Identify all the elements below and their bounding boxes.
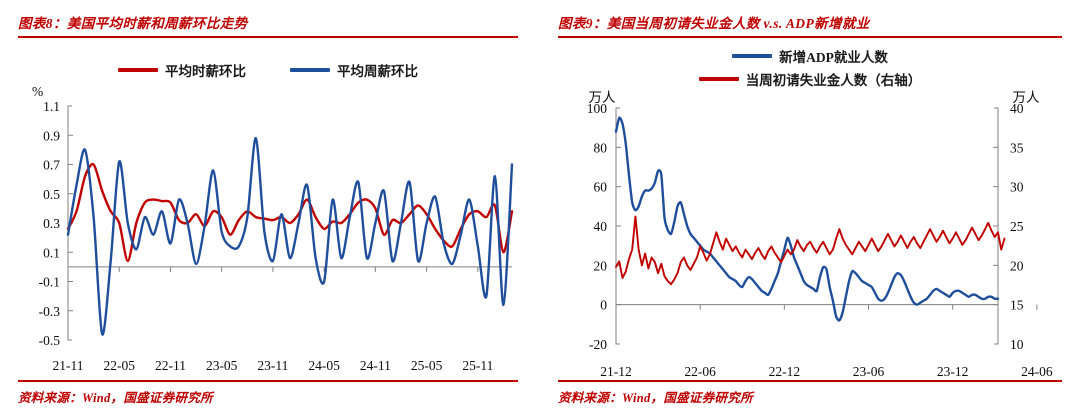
legend-swatch-blue xyxy=(290,68,330,72)
right-axis-tick-label: 15 xyxy=(1010,298,1024,313)
figure-9-title: 图表9：美国当周初请失业金人数 v.s. ADP新增就业 xyxy=(558,12,1062,32)
x-axis-tick-label: 24-05 xyxy=(308,358,340,373)
legend-swatch-blue xyxy=(732,54,772,58)
right-axis-tick-label: 30 xyxy=(1010,180,1024,195)
y-axis-tick-label: 1.1 xyxy=(43,99,60,114)
right-axis-tick-label: 10 xyxy=(1010,337,1024,352)
figure-8-svg: %1.10.90.70.50.30.1-0.1-0.3-0.521-1122-0… xyxy=(18,78,518,378)
right-axis-tick-label: 20 xyxy=(1010,258,1024,273)
x-axis-tick-label: 25-05 xyxy=(411,358,443,373)
figure-9-bottom-rule xyxy=(558,380,1062,382)
legend-label-hourly-wage: 平均时薪环比 xyxy=(165,60,246,80)
y-axis-tick-label: 0.1 xyxy=(43,245,60,260)
figure-9-legend: 新增ADP就业人数 当周初请失业金人数（右轴） xyxy=(558,46,1062,89)
figure-panel-9: 图表9：美国当周初请失业金人数 v.s. ADP新增就业 新增ADP就业人数 当… xyxy=(540,0,1080,415)
left-axis-tick-label: 80 xyxy=(594,140,608,155)
figure-8-bottom-rule xyxy=(18,380,518,382)
left-axis-tick-label: -20 xyxy=(589,337,607,352)
legend-item-hourly-wage: 平均时薪环比 xyxy=(118,60,246,80)
legend-swatch-red xyxy=(699,77,739,81)
x-axis-tick-label: 22-11 xyxy=(155,358,186,373)
x-axis-tick-label: 24-06 xyxy=(1021,364,1053,378)
y-axis-tick-label: 0.9 xyxy=(43,128,60,143)
x-axis-tick-label: 23-11 xyxy=(257,358,288,373)
legend-swatch-red xyxy=(118,68,158,72)
x-axis-tick-label: 21-12 xyxy=(600,364,632,378)
x-axis-tick-label: 21-11 xyxy=(53,358,84,373)
x-axis-tick-label: 22-06 xyxy=(684,364,716,378)
figure-pair-page: 图表8：美国平均时薪和周薪环比走势 平均时薪环比 平均周薪环比 %1.10.90… xyxy=(0,0,1080,415)
y-axis-tick-label: 0.5 xyxy=(43,187,60,202)
y-axis-tick-label: -0.3 xyxy=(39,304,61,319)
x-axis-tick-label: 24-11 xyxy=(360,358,391,373)
y-axis-tick-label: 0.7 xyxy=(43,158,60,173)
y-axis-tick-label: -0.1 xyxy=(39,275,60,290)
figure-9-svg: 万人万人100806040200-204035302520151021-1222… xyxy=(558,86,1062,378)
legend-label-weekly-wage: 平均周薪环比 xyxy=(337,60,418,80)
figure-9-top-rule xyxy=(558,36,1062,38)
figure-8-source: 资料来源：Wind，国盛证券研究所 xyxy=(18,387,213,406)
left-axis-tick-label: 20 xyxy=(594,258,608,273)
x-axis-tick-label: 23-12 xyxy=(937,364,969,378)
y-axis-unit-label: % xyxy=(32,84,43,99)
left-axis-tick-label: 100 xyxy=(587,101,608,116)
figure-8-top-rule xyxy=(18,36,518,38)
left-axis-tick-label: 0 xyxy=(600,298,607,313)
figure-9-source: 资料来源：Wind，国盛证券研究所 xyxy=(558,387,753,406)
right-axis-tick-label: 35 xyxy=(1010,140,1024,155)
x-axis-tick-label: 23-05 xyxy=(206,358,238,373)
left-axis-tick-label: 40 xyxy=(594,219,608,234)
figure-panel-8: 图表8：美国平均时薪和周薪环比走势 平均时薪环比 平均周薪环比 %1.10.90… xyxy=(0,0,540,415)
legend-item-adp-employment: 新增ADP就业人数 xyxy=(732,46,888,66)
x-axis-tick-label: 22-05 xyxy=(103,358,135,373)
figure-8-plot: %1.10.90.70.50.30.1-0.1-0.3-0.521-1122-0… xyxy=(18,78,518,378)
y-axis-tick-label: 0.3 xyxy=(43,216,60,231)
right-axis-tick-label: 40 xyxy=(1010,101,1024,116)
x-axis-tick-label: 23-06 xyxy=(853,364,885,378)
figure-8-title: 图表8：美国平均时薪和周薪环比走势 xyxy=(18,12,518,32)
legend-label-adp-employment: 新增ADP就业人数 xyxy=(779,46,888,66)
y-axis-tick-label: -0.5 xyxy=(39,333,61,348)
x-axis-tick-label: 22-12 xyxy=(769,364,801,378)
left-axis-tick-label: 60 xyxy=(594,180,608,195)
series-line-adp-employment xyxy=(616,118,998,321)
legend-item-weekly-wage: 平均周薪环比 xyxy=(290,60,418,80)
x-axis-tick-label: 25-11 xyxy=(462,358,493,373)
figure-9-plot: 万人万人100806040200-204035302520151021-1222… xyxy=(558,86,1062,378)
right-axis-tick-label: 25 xyxy=(1010,219,1024,234)
figure-8-legend: 平均时薪环比 平均周薪环比 xyxy=(18,60,518,80)
